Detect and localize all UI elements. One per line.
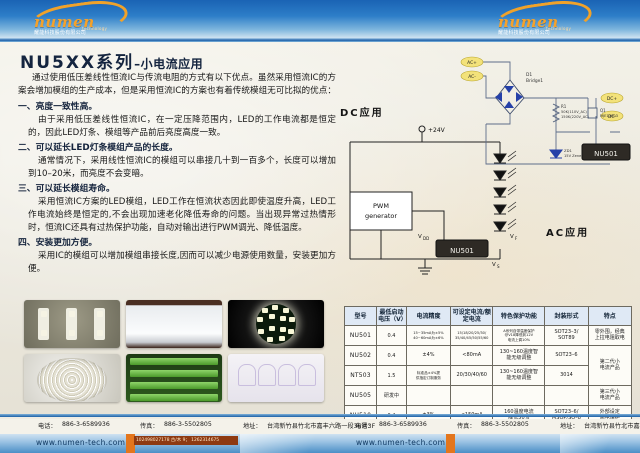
cell-package: 3014 bbox=[545, 366, 588, 386]
section-heading-4: 四、安装更加方便。 bbox=[18, 237, 336, 250]
ac-bridge-ref: D1 bbox=[526, 72, 532, 78]
cell-accuracy: ±4% bbox=[406, 346, 450, 366]
cell-current bbox=[451, 386, 493, 406]
cell-package: SOT23–3/ SOT89 bbox=[545, 326, 588, 346]
ac-terminal-plus: AC+ bbox=[467, 60, 477, 66]
footer-website-link-right[interactable]: www.numen-tech.com bbox=[356, 438, 445, 447]
cell-feature: 零外围，经典 上拉电阻取电 bbox=[588, 326, 631, 346]
col-header-accuracy: 电流精度 bbox=[406, 307, 450, 326]
ac-zener-part: 15V Zener bbox=[564, 154, 583, 158]
cell-protect: 130~160温度智 能无级调整 bbox=[493, 366, 545, 386]
led-strip-rows-photo bbox=[126, 354, 222, 402]
ac-output-plus: DC+ bbox=[607, 96, 617, 102]
cell-current: <80mA bbox=[451, 346, 493, 366]
table-header-row: 型号 最低启动电压（V） 电流精度 可设定电流/额定电流 特色保护功能 封装形式… bbox=[345, 307, 632, 326]
company-logo-left: numen technology 耀能科技股份有限公司 bbox=[30, 2, 126, 36]
logo-company-name-cn: 耀能科技股份有限公司 bbox=[498, 29, 550, 36]
dc-pin-vs: V bbox=[492, 262, 496, 268]
col-header-vstart: 最低启动电压（V） bbox=[377, 307, 407, 326]
specification-table: 型号 最低启动电压（V） 电流精度 可设定电流/额定电流 特色保护功能 封装形式… bbox=[344, 306, 632, 426]
footer-addr-label-right: 地址： bbox=[560, 421, 579, 430]
footer-tel-label-left: 电话： bbox=[38, 421, 57, 430]
cell-feature: 第三代小 电流产品 bbox=[588, 386, 631, 406]
cell-vstart: 0.4 bbox=[377, 326, 407, 346]
footer-fax-right: 886-3-5502805 bbox=[481, 421, 529, 428]
ac-ic-label: NU501 bbox=[594, 150, 618, 158]
footer-fax-left: 886-3-5502805 bbox=[164, 421, 212, 428]
cell-model: NU501 bbox=[345, 326, 377, 346]
svg-text:F: F bbox=[515, 236, 518, 241]
intro-paragraph: 通过使用低压差线性恒流IC与传流电阻的方式有以下优点。虽然采用恒流IC的方案会增… bbox=[18, 72, 336, 98]
dc-supply-label: +24V bbox=[428, 127, 446, 134]
footer-accent-block-right bbox=[446, 434, 455, 453]
cell-model: NU502 bbox=[345, 346, 377, 366]
footer-website-link-left[interactable]: www.numen-tech.com bbox=[36, 438, 125, 447]
product-photo-grid bbox=[24, 300, 324, 404]
col-header-current: 可设定电流/额定电流 bbox=[451, 307, 493, 326]
footer-tel-right: 886-3-6589936 bbox=[379, 421, 427, 428]
strip-reel-shape bbox=[37, 358, 107, 402]
ac-resistor-v220: 150K(220V_AC) bbox=[561, 115, 590, 119]
led-module-photo bbox=[24, 300, 120, 348]
round-pcb-shape bbox=[256, 304, 296, 344]
led-module-chain-photo bbox=[228, 354, 324, 402]
cell-accuracy: 标准品±4%提 供指定订制服务 bbox=[406, 366, 450, 386]
article-body: 通过使用低压差线性恒流IC与传流电阻的方式有以下优点。虽然采用恒流IC的方案会增… bbox=[18, 72, 336, 278]
section-heading-3: 三、可以延长模组寿命。 bbox=[18, 183, 336, 196]
col-header-protect: 特色保护功能 bbox=[493, 307, 545, 326]
table-row: NU505 研发中 第三代小 电流产品 bbox=[345, 386, 632, 406]
cell-package: SOT23–6 bbox=[545, 346, 588, 366]
ac-resistor-v110: 50K(110V_AC) bbox=[561, 110, 587, 114]
cell-protect: A系列自带温度保护 @V18降低到12V 电流上调10% bbox=[493, 326, 545, 346]
dc-ic-label: NU501 bbox=[450, 247, 474, 255]
section-body-2: 通常情况下，采用线性恒流IC的模组可以串接几十到一百多个，长度可以增加到10–2… bbox=[28, 155, 336, 181]
footer-tag-strip: 102498027178 古/木 9； 1262314675 bbox=[134, 436, 238, 445]
cell-vstart: 研发中 bbox=[377, 386, 407, 406]
schematic-area: DC应用 AC应用 +24V PWM generator bbox=[332, 44, 634, 294]
col-header-feature: 特点 bbox=[588, 307, 631, 326]
table-row: NU502 0.4 ±4% <80mA 130~160温度智 能无级调整 SOT… bbox=[345, 346, 632, 366]
page-title-main: NU5XX系列 bbox=[20, 53, 134, 73]
section-heading-1: 一、亮度一致性高。 bbox=[18, 101, 336, 114]
cell-protect: 130~160温度智 能无级调整 bbox=[493, 346, 545, 366]
section-heading-2: 二、可以延长LED灯条模组产品的长度。 bbox=[18, 142, 336, 155]
cell-feature: 第二代小 电流产品 bbox=[588, 346, 631, 386]
footer-decoration-right bbox=[560, 434, 640, 453]
cell-current: 20/30/40/60 bbox=[451, 366, 493, 386]
logo-company-name-cn: 耀能科技股份有限公司 bbox=[34, 29, 86, 36]
cell-vstart: 0.4 bbox=[377, 346, 407, 366]
col-header-model: 型号 bbox=[345, 307, 377, 326]
footer-divider-rule bbox=[0, 414, 640, 417]
ac-bridge-name: Bridge1 bbox=[526, 78, 543, 84]
footer-contact-bar: 电话： 886-3-6589936 传真： 886-3-5502805 地址： … bbox=[0, 419, 640, 434]
pwm-block-line1: PWM bbox=[373, 202, 389, 210]
cell-package bbox=[545, 386, 588, 406]
footer-fax-label-right: 传真： bbox=[457, 421, 476, 430]
ac-transistor-part: MJE13003 bbox=[600, 114, 618, 118]
ac-resistor-ref: R1 bbox=[561, 104, 567, 109]
page-title-sub: –小电流应用 bbox=[134, 57, 203, 71]
svg-text:S: S bbox=[497, 264, 500, 269]
dc-pin-vf: V bbox=[510, 234, 514, 240]
section-body-4: 采用IC的模组可以增加模组串接长度,因而可以减少电源使用数量，安装更加方便。 bbox=[28, 250, 336, 276]
cell-current: 15/18/20/25/30/ 35/40/45/50/55/60 bbox=[451, 326, 493, 346]
page-title: NU5XX系列–小电流应用 bbox=[20, 48, 203, 73]
cell-model: NU505 bbox=[345, 386, 377, 406]
footer-fax-label-left: 传真： bbox=[140, 421, 159, 430]
round-led-pcb-photo bbox=[228, 300, 324, 348]
col-header-package: 封装形式 bbox=[545, 307, 588, 326]
cell-protect bbox=[493, 386, 545, 406]
brochure-page: numen technology 耀能科技股份有限公司 numen techno… bbox=[0, 0, 640, 453]
cell-model: NT503 bbox=[345, 366, 377, 386]
led-panel-light-photo bbox=[126, 300, 222, 348]
footer-decoration-left bbox=[240, 434, 360, 453]
table-row: NU501 0.4 15~35mA为±5% 40~60mA为±6% 15/18/… bbox=[345, 326, 632, 346]
cell-vstart: 1.5 bbox=[377, 366, 407, 386]
ac-zener-ref: ZD1 bbox=[564, 148, 573, 153]
footer-tel-label-right: 电话： bbox=[355, 421, 374, 430]
footer-addr-right: 台湾新竹县竹北市嘉丰六路一段36号3F bbox=[584, 421, 640, 430]
cell-accuracy: 15~35mA为±5% 40~60mA为±6% bbox=[406, 326, 450, 346]
cell-accuracy bbox=[406, 386, 450, 406]
footer-tel-left: 886-3-6589936 bbox=[62, 421, 110, 428]
footer-tag-text: 102498027178 古/木 9； 1262314675 bbox=[134, 436, 238, 445]
ac-terminal-minus: AC- bbox=[468, 74, 476, 80]
dc-pin-vdd: V bbox=[418, 234, 422, 240]
section-body-3: 采用恒流IC方案的LED模组，LED工作在恒流状态因此即使温度升高，LED工作电… bbox=[28, 196, 336, 235]
section-body-1: 由于采用低压差线性恒流IC，在一定压降范围内，LED的工作电流都是恒定的，因此L… bbox=[28, 114, 336, 140]
led-strip-reel-photo bbox=[24, 354, 120, 402]
svg-text:DD: DD bbox=[423, 236, 429, 241]
ac-application-schematic: D1 Bridge1 AC+ AC- DC+ DC- R1 50K(110V_A… bbox=[460, 46, 634, 178]
footer-addr-label-left: 地址： bbox=[243, 421, 262, 430]
ac-transistor-ref: Q1 bbox=[600, 108, 606, 113]
pwm-block-line2: generator bbox=[365, 212, 397, 220]
